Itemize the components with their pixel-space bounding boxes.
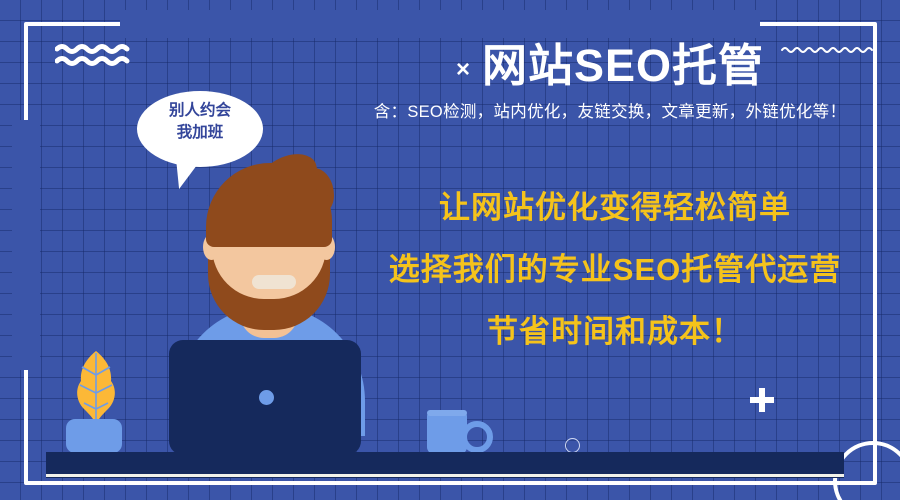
- small-circle-icon: [565, 438, 580, 453]
- laptop-logo-icon: [259, 390, 274, 405]
- slogan-line-3: 节省时间和成本！: [335, 316, 895, 347]
- speech-bubble-line-1: 别人约会: [137, 100, 263, 122]
- person-mouth: [252, 275, 296, 289]
- mug-rim: [427, 410, 467, 416]
- title-bullet-icon: ×: [456, 58, 470, 82]
- seo-banner: × 网站SEO托管 含：SEO检测，站内优化，友链交换，文章更新，外链优化等！ …: [0, 0, 900, 500]
- desk-edge-line: [46, 474, 844, 477]
- speech-bubble-line-2: 我加班: [137, 122, 263, 144]
- page-subtitle: 含：SEO检测，站内优化，友链交换，文章更新，外链优化等！: [330, 98, 890, 122]
- slogan-block: 让网站优化变得轻松简单 选择我们的专业SEO托管代运营 节省时间和成本！: [335, 192, 895, 347]
- speech-bubble-text: 别人约会 我加班: [137, 100, 263, 145]
- wavy-lines-icon: [55, 42, 133, 68]
- slogan-line-2: 选择我们的专业SEO托管代运营: [335, 254, 895, 285]
- plus-icon: [750, 388, 774, 412]
- frame-left-gap-mask: [12, 120, 40, 370]
- title-row: × 网站SEO托管: [330, 42, 890, 89]
- coffee-mug: [427, 412, 467, 454]
- banner-header: × 网站SEO托管 含：SEO检测，站内优化，友链交换，文章更新，外链优化等！: [330, 42, 890, 122]
- slogan-line-1: 让网站优化变得轻松简单: [335, 192, 895, 223]
- frame-top-gap-mask: [120, 10, 760, 38]
- plant-leaf-icon: [72, 349, 120, 427]
- page-title: 网站SEO托管: [482, 42, 764, 89]
- plant-pot: [66, 419, 122, 453]
